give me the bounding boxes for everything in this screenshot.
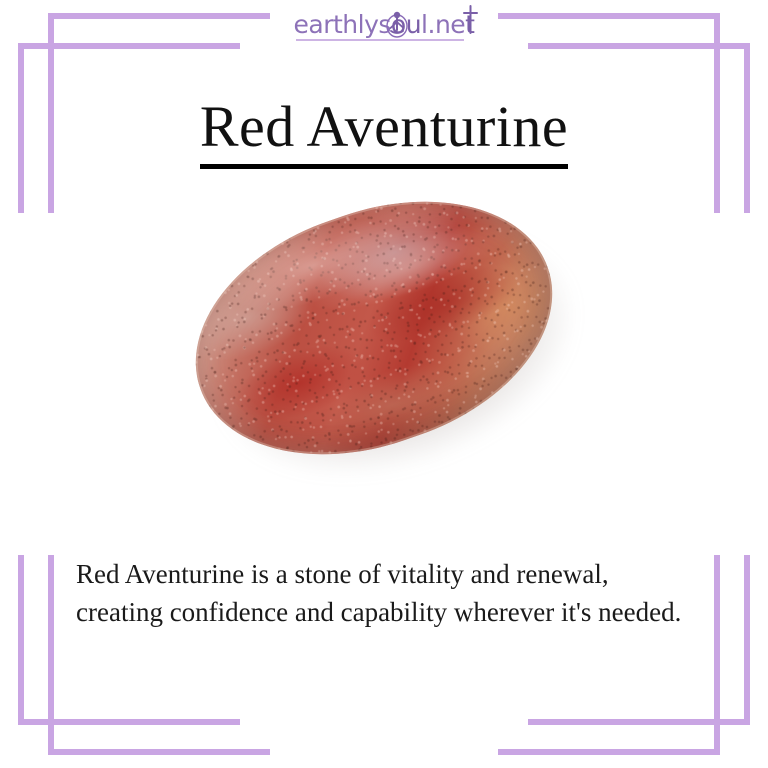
site-logo-text-part-3: l.ne [421, 10, 465, 39]
frame-line-inner-vertical [48, 555, 54, 755]
frame-line-outer-vertical [744, 555, 750, 725]
poster-canvas: earthlysoul.net Red Aventurine [0, 0, 768, 768]
site-logo-text-part-2: ou [391, 10, 421, 39]
site-logo-text-part-4: t [465, 10, 474, 39]
site-logo-underline [296, 39, 465, 41]
site-logo-text: earthlysoul.net [294, 10, 475, 39]
site-logo-text-part-1: earthlys [294, 10, 391, 39]
stone-description: Red Aventurine is a stone of vitality an… [76, 555, 696, 632]
site-logo-inner: earthlysoul.net [294, 12, 475, 37]
frame-line-inner-horizontal [48, 749, 270, 755]
site-logo[interactable]: earthlysoul.net [0, 12, 768, 46]
frame-line-inner-horizontal [498, 749, 720, 755]
frame-line-outer-vertical [18, 555, 24, 725]
frame-line-inner-vertical [714, 555, 720, 755]
page-title: Red Aventurine [200, 97, 568, 169]
stone-image [168, 182, 588, 482]
red-aventurine-stone [162, 158, 585, 497]
